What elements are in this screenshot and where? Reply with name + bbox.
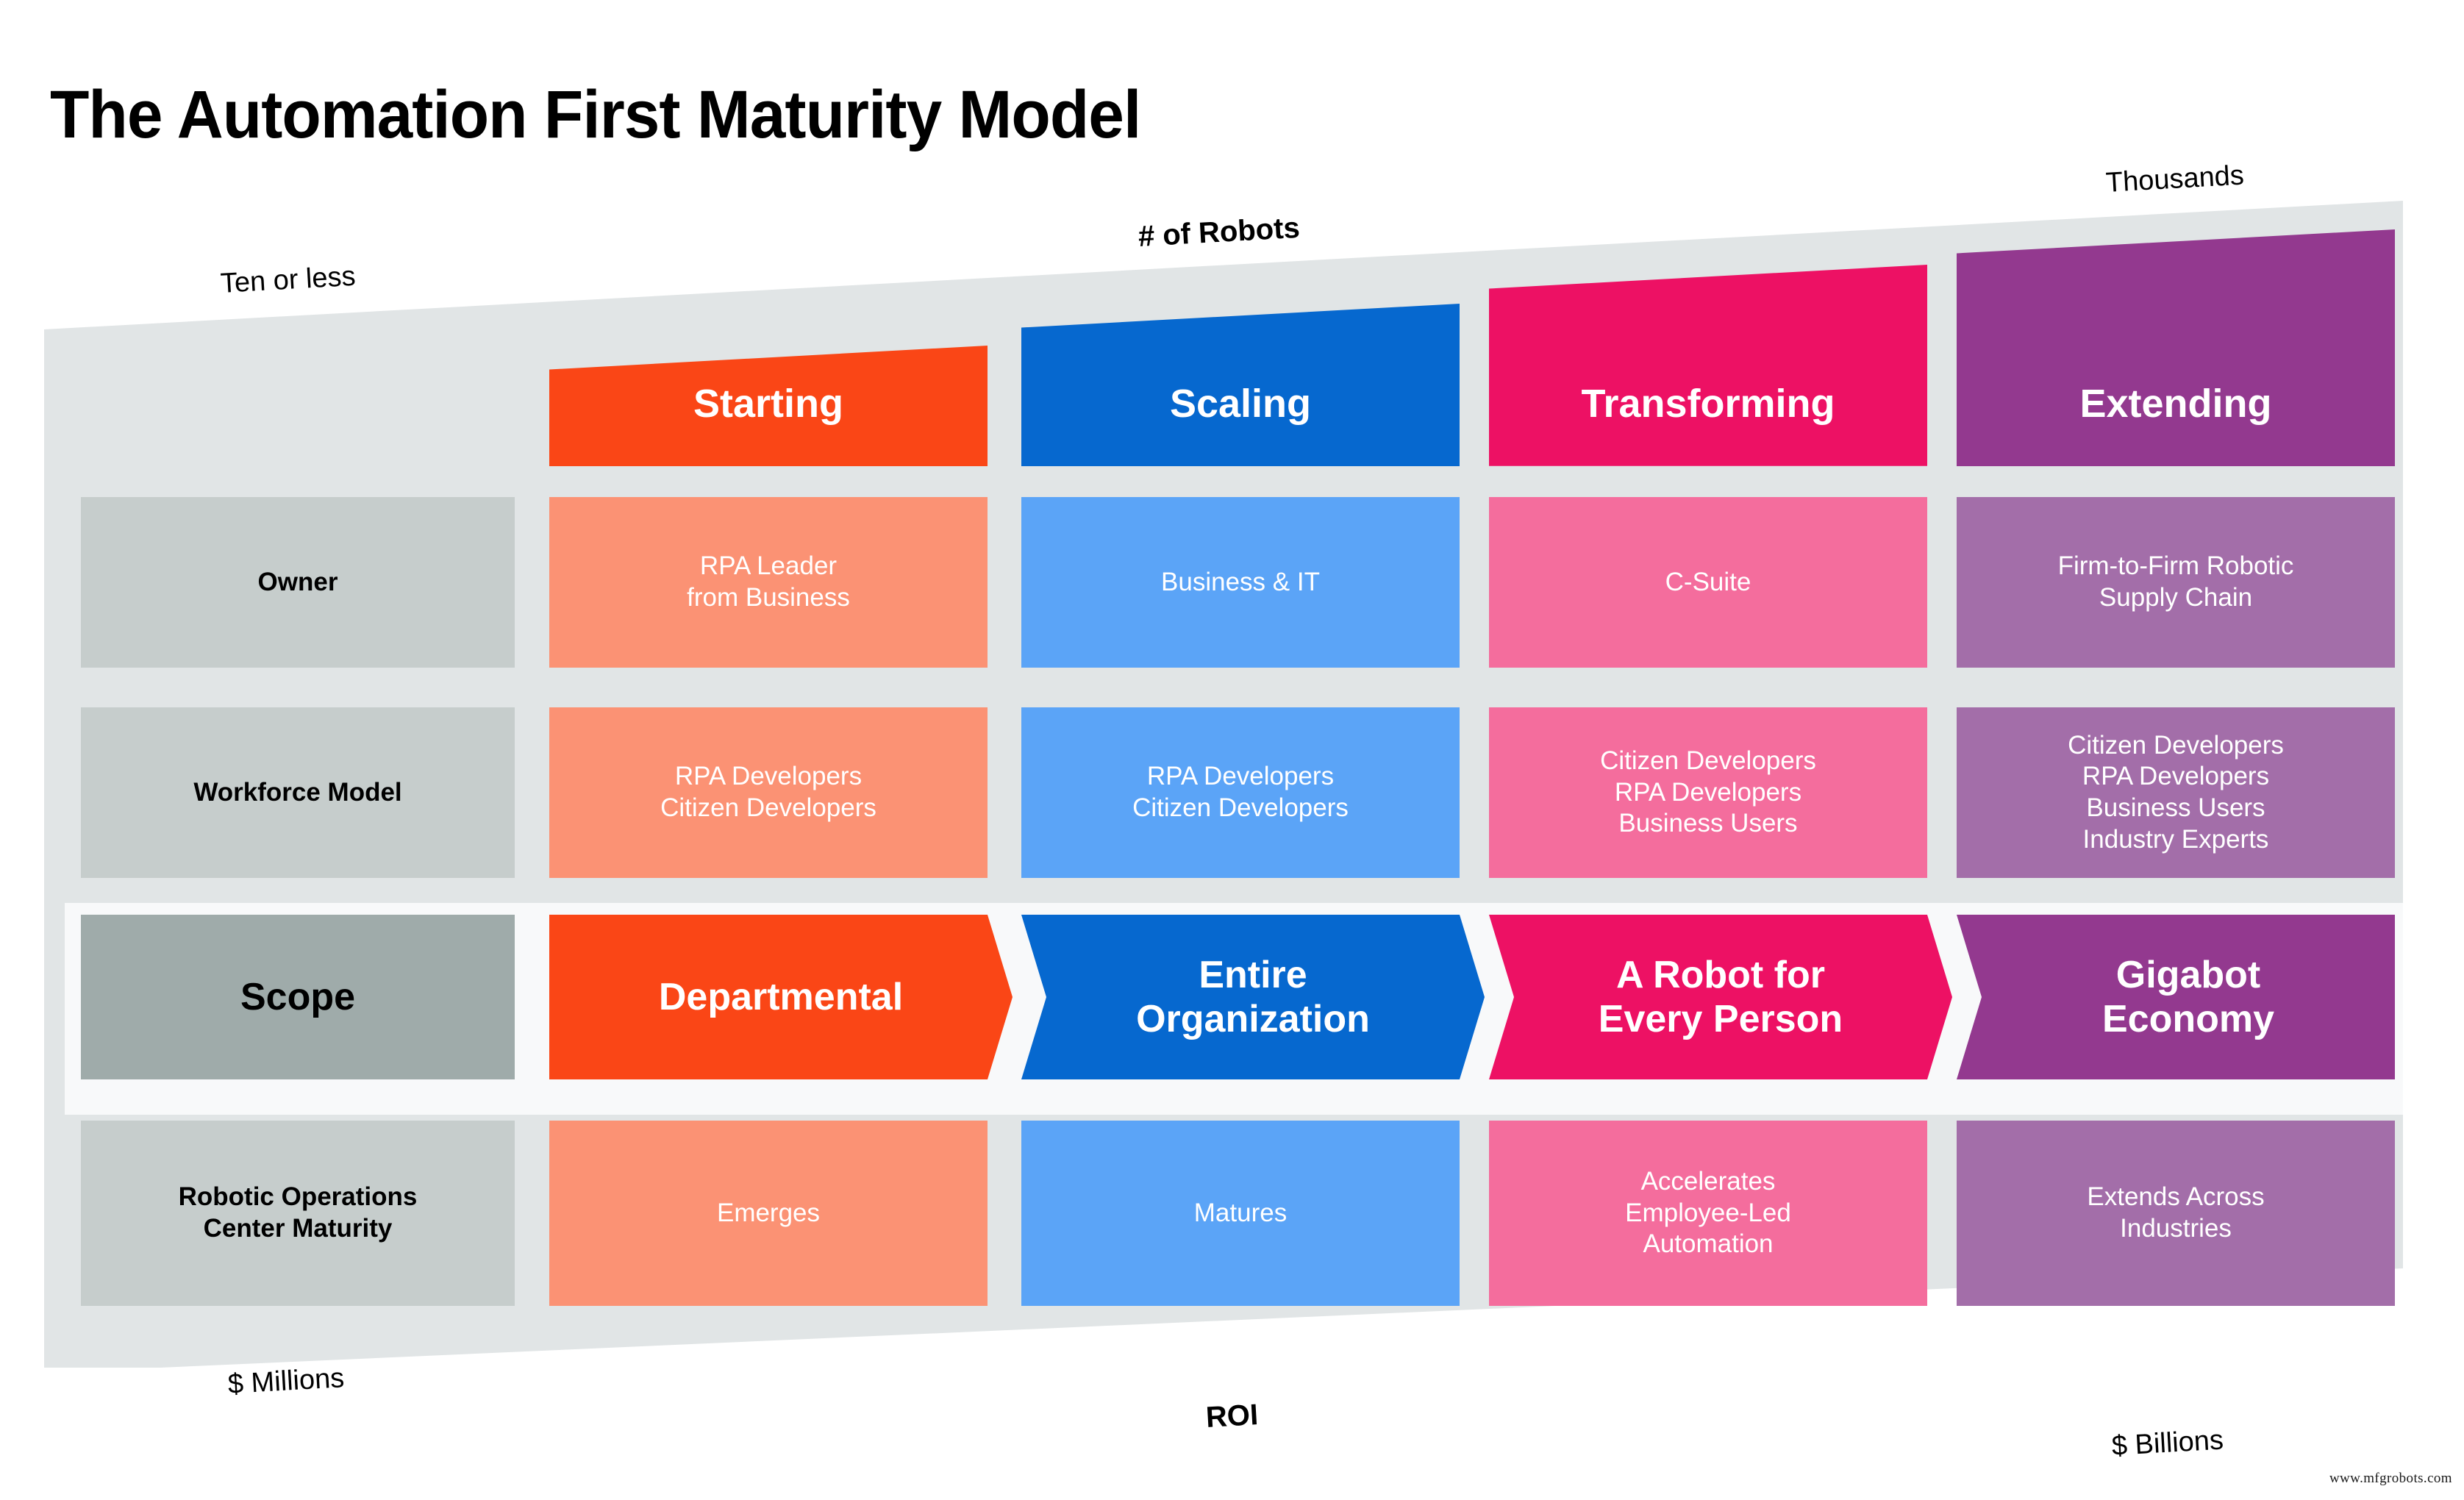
stage-header-starting[interactable]: Starting bbox=[549, 346, 988, 466]
cell-owner-extending[interactable]: Firm-to-Firm RoboticSupply Chain bbox=[1957, 497, 2395, 668]
cell-label-robotic-operations-center-maturity-extending: Extends AcrossIndustries bbox=[1957, 1182, 2395, 1244]
stage-header-label-starting: Starting bbox=[549, 381, 988, 426]
cell-label-workforce-model-scaling: RPA DevelopersCitizen Developers bbox=[1021, 761, 1460, 824]
stage-header-scaling[interactable]: Scaling bbox=[1021, 304, 1460, 466]
annotation-roi-high: $ Billions bbox=[2111, 1425, 2224, 1462]
stage-header-label-extending: Extending bbox=[1957, 381, 2395, 426]
cell-robotic-operations-center-maturity-scaling[interactable]: Matures bbox=[1021, 1121, 1460, 1306]
cell-label-owner-extending: Firm-to-Firm RoboticSupply Chain bbox=[1957, 551, 2395, 613]
cell-label-robotic-operations-center-maturity-transforming: AcceleratesEmployee-LedAutomation bbox=[1489, 1166, 1927, 1260]
row-label-scope: Scope bbox=[81, 915, 515, 1079]
scope-cell-scaling[interactable]: EntireOrganization bbox=[1021, 915, 1485, 1079]
stage-header-shape-extending bbox=[1957, 229, 2395, 466]
scope-cell-transforming[interactable]: A Robot forEvery Person bbox=[1489, 915, 1952, 1079]
infographic-canvas: The Automation First Maturity Model Ten … bbox=[0, 0, 2464, 1500]
page-title: The Automation First Maturity Model bbox=[50, 76, 1140, 154]
cell-label-owner-transforming: C-Suite bbox=[1489, 567, 1927, 599]
scope-cell-starting[interactable]: Departmental bbox=[549, 915, 1013, 1079]
cell-workforce-model-transforming[interactable]: Citizen DevelopersRPA DevelopersBusiness… bbox=[1489, 707, 1927, 878]
cell-robotic-operations-center-maturity-starting[interactable]: Emerges bbox=[549, 1121, 988, 1306]
cell-owner-transforming[interactable]: C-Suite bbox=[1489, 497, 1927, 668]
watermark: www.mfgrobots.com bbox=[2329, 1471, 2452, 1487]
cell-owner-scaling[interactable]: Business & IT bbox=[1021, 497, 1460, 668]
cell-workforce-model-scaling[interactable]: RPA DevelopersCitizen Developers bbox=[1021, 707, 1460, 878]
stage-header-label-transforming: Transforming bbox=[1489, 381, 1927, 426]
row-label-robotic-operations-center-maturity: Robotic OperationsCenter Maturity bbox=[81, 1121, 515, 1306]
stage-header-label-scaling: Scaling bbox=[1021, 381, 1460, 426]
cell-label-workforce-model-extending: Citizen DevelopersRPA DevelopersBusiness… bbox=[1957, 730, 2395, 856]
row-label-workforce-model: Workforce Model bbox=[81, 707, 515, 878]
cell-label-owner-scaling: Business & IT bbox=[1021, 567, 1460, 599]
scope-cell-label-scaling: EntireOrganization bbox=[1034, 953, 1472, 1042]
cell-label-robotic-operations-center-maturity-starting: Emerges bbox=[549, 1198, 988, 1229]
annotation-roi-axis: ROI bbox=[1205, 1399, 1260, 1435]
cell-robotic-operations-center-maturity-transforming[interactable]: AcceleratesEmployee-LedAutomation bbox=[1489, 1121, 1927, 1306]
stage-header-shape-transforming bbox=[1489, 265, 1927, 466]
stage-header-transforming[interactable]: Transforming bbox=[1489, 265, 1927, 466]
cell-label-owner-starting: RPA Leaderfrom Business bbox=[549, 551, 988, 613]
scope-cell-label-extending: GigabotEconomy bbox=[1969, 953, 2407, 1042]
row-label-owner: Owner bbox=[81, 497, 515, 668]
cell-owner-starting[interactable]: RPA Leaderfrom Business bbox=[549, 497, 988, 668]
cell-label-robotic-operations-center-maturity-scaling: Matures bbox=[1021, 1198, 1460, 1229]
scope-cell-extending[interactable]: GigabotEconomy bbox=[1957, 915, 2420, 1079]
cell-workforce-model-extending[interactable]: Citizen DevelopersRPA DevelopersBusiness… bbox=[1957, 707, 2395, 878]
stage-header-extending[interactable]: Extending bbox=[1957, 229, 2395, 466]
cell-robotic-operations-center-maturity-extending[interactable]: Extends AcrossIndustries bbox=[1957, 1121, 2395, 1306]
cell-workforce-model-starting[interactable]: RPA DevelopersCitizen Developers bbox=[549, 707, 988, 878]
scope-cell-label-starting: Departmental bbox=[562, 975, 1000, 1019]
annotation-roi-low: $ Millions bbox=[227, 1362, 346, 1401]
cell-label-workforce-model-transforming: Citizen DevelopersRPA DevelopersBusiness… bbox=[1489, 746, 1927, 840]
scope-cell-label-transforming: A Robot forEvery Person bbox=[1501, 953, 1940, 1042]
cell-label-workforce-model-starting: RPA DevelopersCitizen Developers bbox=[549, 761, 988, 824]
